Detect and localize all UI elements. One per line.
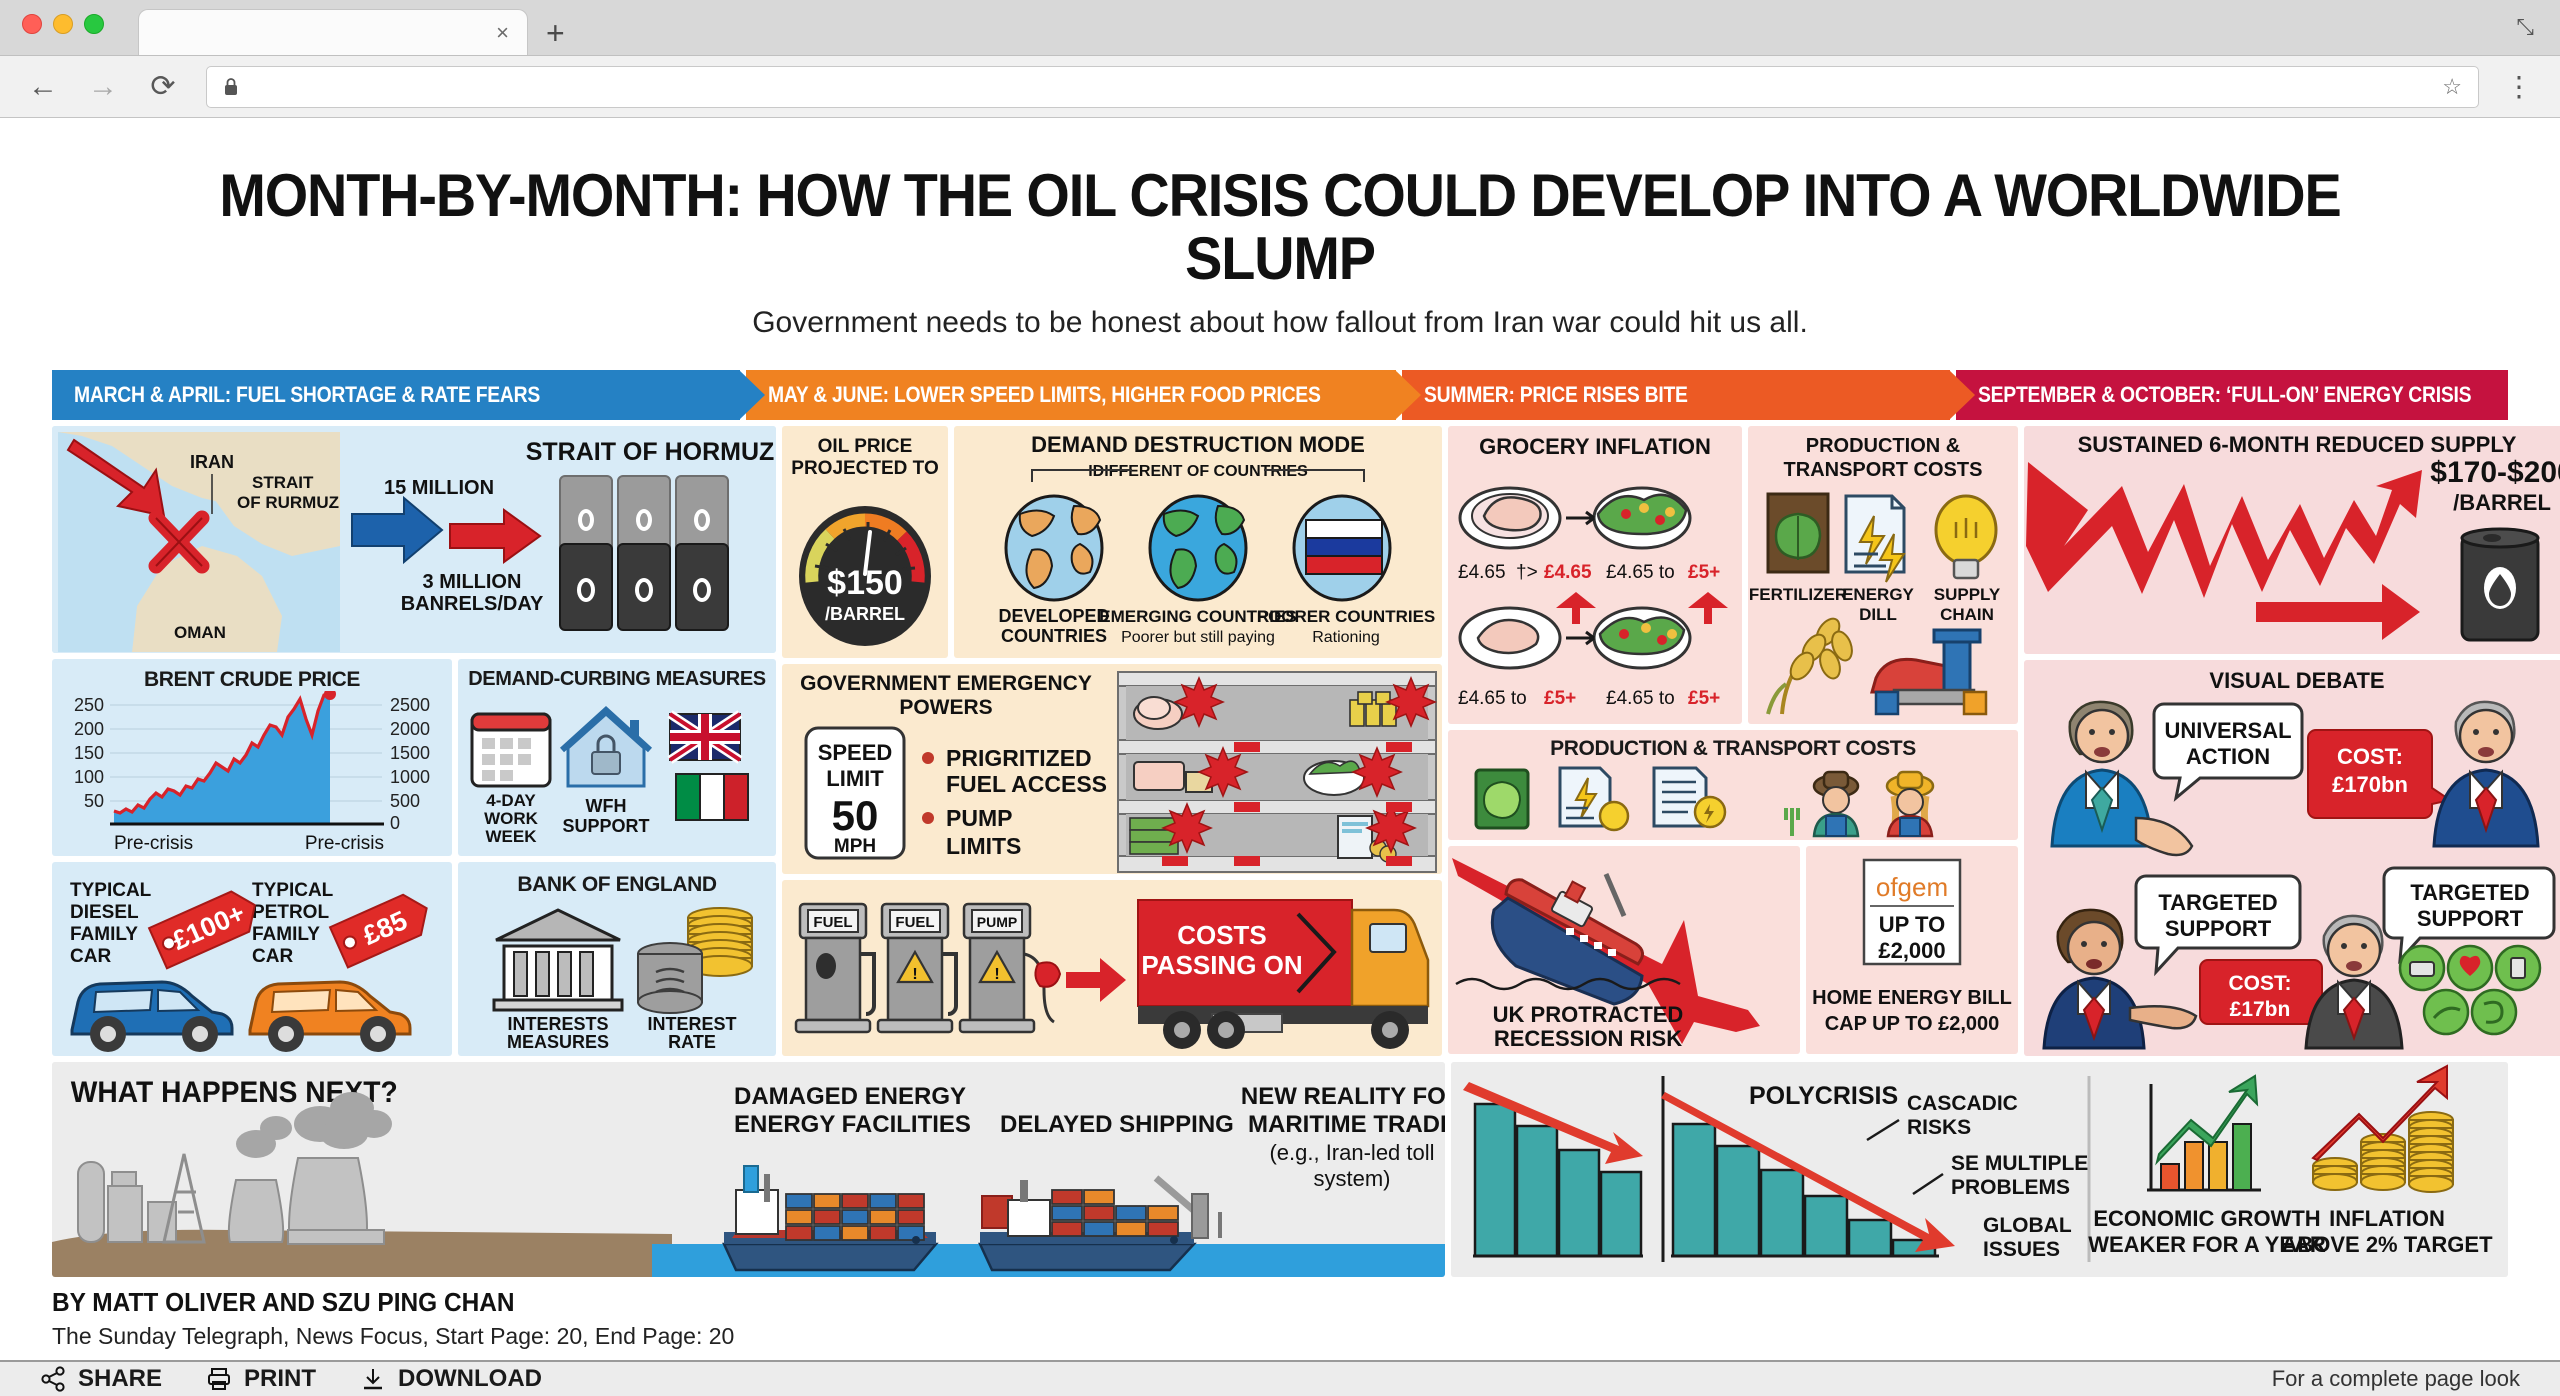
svg-text:WEEK: WEEK [486, 827, 538, 846]
panel-title: DEMAND-CURBING MEASURES [458, 659, 776, 690]
italy-flag-icon [676, 774, 748, 820]
print-label: PRINT [244, 1365, 316, 1393]
grocery-inflation-panel: GROCERY INFLATION £4.65 †> [1448, 426, 1742, 724]
fuel-cost-cars-panel: TYPICALDIESELFAMILYCAR TYPICALPETROLFAMI… [52, 862, 452, 1056]
pumps-and-truck-illustration: FUEL FUEL [782, 880, 1442, 1056]
svg-text:NEW REALITY FOR: NEW REALITY FOR [1241, 1083, 1445, 1110]
svg-text:INTEREST: INTEREST [647, 1014, 736, 1034]
svg-text:1000: 1000 [390, 767, 430, 787]
production-transport-costs-panel: PRODUCTION & TRANSPORT COSTS [1448, 730, 2018, 840]
share-label: SHARE [78, 1365, 162, 1393]
download-label: DOWNLOAD [398, 1365, 542, 1393]
svg-text:UK PROTRACTED: UK PROTRACTED [1493, 1002, 1684, 1027]
svg-text:2500: 2500 [390, 695, 430, 715]
svg-text:/BARREL: /BARREL [2453, 490, 2551, 515]
visual-debate-panel: VISUAL DEBATE [2024, 660, 2560, 1056]
demand-destruction-illustration: DEMAND DESTRUCTION MODE IDIFFERENT OF CO… [954, 426, 1442, 658]
svg-text:15 MILLION: 15 MILLION [384, 477, 494, 499]
bookmark-star-icon[interactable]: ☆ [2442, 74, 2462, 100]
phase-banner-strip: MARCH & APRIL: FUEL SHORTAGE & RATE FEAR… [52, 370, 2508, 420]
svg-text:2000: 2000 [390, 719, 430, 739]
svg-text:VISUAL DEBATE: VISUAL DEBATE [2209, 668, 2384, 693]
print-button[interactable]: PRINT [206, 1365, 316, 1393]
demand-curbing-icons: 4-DAY WORK WEEK WFH SUPPORT [458, 690, 776, 850]
browser-tab[interactable]: × [138, 9, 528, 55]
cost-bubble-17bn: COST: £17bn [2200, 960, 2322, 1024]
fertilizer-icon [1768, 494, 1828, 572]
svg-text:LIMITS: LIMITS [946, 833, 1021, 859]
svg-text:(e.g., Iran-led toll: (e.g., Iran-led toll [1269, 1140, 1434, 1165]
svg-text:HOME ENERGY BILL: HOME ENERGY BILL [1812, 987, 2012, 1009]
strait-of-hormuz-panel: IRAN STRAIT OF RURMUZ OMAN [52, 426, 776, 653]
close-icon[interactable]: × [492, 22, 513, 44]
svg-text:Pre-crisis: Pre-crisis [114, 833, 193, 854]
window-controls[interactable] [22, 14, 104, 34]
new-tab-button[interactable]: + [546, 17, 565, 49]
globe-emerging-icon [1150, 496, 1246, 600]
svg-text:TYPICAL: TYPICAL [252, 880, 334, 901]
svg-text:£4.65 to: £4.65 to [1458, 688, 1527, 709]
orange-car-icon [250, 982, 410, 1052]
svg-text:ACTION: ACTION [2186, 744, 2270, 769]
svg-text:UNIVERSAL: UNIVERSAL [2164, 718, 2291, 743]
svg-text:£2,000: £2,000 [1878, 938, 1945, 963]
speech-bubble-universal-action: UNIVERSAL ACTION [2154, 704, 2302, 798]
bank-of-england-icons: INTERESTS MEASURES INTEREST RATE [458, 896, 776, 1054]
close-window-button[interactable] [22, 14, 42, 34]
svg-text:Pre-crisis: Pre-crisis [305, 833, 384, 854]
svg-text:PETROL: PETROL [252, 902, 329, 923]
hormuz-map-illustration: IRAN STRAIT OF RURMUZ OMAN [52, 426, 776, 653]
svg-text:PRIGRITIZED: PRIGRITIZED [946, 745, 1092, 771]
svg-text:POWERS: POWERS [899, 696, 992, 719]
svg-text:CAP UP TO £2,000: CAP UP TO £2,000 [1825, 1013, 2000, 1035]
fuel-pump-1: FUEL [796, 904, 874, 1032]
svg-text:CHAIN: CHAIN [1940, 605, 1994, 624]
forward-icon[interactable]: → [86, 70, 120, 104]
production-transport-top-panel: PRODUCTION & TRANSPORT COSTS [1748, 426, 2018, 724]
svg-text:GLOBAL: GLOBAL [1983, 1214, 2072, 1237]
fuel-pump-2: FUEL ! [878, 904, 956, 1032]
svg-text:OIL PRICE: OIL PRICE [818, 436, 913, 457]
svg-text:FUEL: FUEL [813, 914, 852, 931]
svg-text:SUPPORT: SUPPORT [562, 816, 649, 836]
svg-text:Rationing: Rationing [1312, 629, 1380, 646]
browser-window: × + ⤡ ← → ⟳ ☆ ⋮ MONTH-BY-MONTH: HOW THE … [0, 0, 2560, 1396]
svg-text:/BARREL: /BARREL [825, 604, 905, 624]
political-debate-illustration: VISUAL DEBATE [2024, 660, 2560, 1056]
polycrisis-charts: POLYCRISIS CASCADIC RISKS SE MULTIPLE PR… [1451, 1062, 2508, 1277]
navigation-bar: ← → ⟳ ☆ ⋮ [0, 56, 2560, 118]
svg-text:£17bn: £17bn [2230, 998, 2291, 1021]
svg-text:ofgem: ofgem [1876, 872, 1948, 902]
share-button[interactable]: SHARE [40, 1365, 162, 1393]
svg-text:system): system) [1314, 1166, 1391, 1191]
price-tag-petrol: £85 [330, 888, 436, 967]
globe-developed-icon [1006, 496, 1102, 600]
invoice-icon [1654, 768, 1725, 827]
svg-text:UP TO: UP TO [1879, 912, 1945, 937]
svg-text:BANRELS/DAY: BANRELS/DAY [401, 593, 544, 615]
infographic: MONTH-BY-MONTH: HOW THE OIL CRISIS COULD… [0, 118, 2560, 1277]
svg-text:TYPICAL: TYPICAL [70, 880, 152, 901]
svg-text:3 MILLION: 3 MILLION [423, 571, 522, 593]
delivery-truck-icon: COSTS PASSING ON [1138, 900, 1428, 1049]
what-happens-next-panel: WHAT HAPPENS NEXT? [52, 1062, 1445, 1277]
speech-bubble-targeted-support-left: TARGETED SUPPORT [2136, 876, 2300, 972]
svg-text:RISKS: RISKS [1907, 1116, 1971, 1139]
production-transport-icons: PRODUCTION & TRANSPORT COSTS [1748, 426, 2018, 724]
back-icon[interactable]: ← [26, 70, 60, 104]
svg-text:POLYCRISIS: POLYCRISIS [1749, 1082, 1898, 1110]
svg-text:ENERGY FACILITIES: ENERGY FACILITIES [734, 1111, 971, 1138]
uk-flag-icon [670, 714, 740, 760]
svg-text:PASSING ON: PASSING ON [1141, 950, 1302, 980]
svg-text:DEMAND DESTRUCTION MODE: DEMAND DESTRUCTION MODE [1031, 432, 1365, 457]
svg-text:$170-$200: $170-$200 [2430, 456, 2560, 489]
svg-text:IDIFFERENT OF COUNTRIES: IDIFFERENT OF COUNTRIES [1088, 463, 1308, 480]
svg-text:CAR: CAR [70, 946, 111, 967]
oil-barrel-icon [2462, 529, 2538, 640]
svg-text:ISSUES: ISSUES [1983, 1238, 2060, 1261]
svg-text:GOVERNMENT EMERGENCY: GOVERNMENT EMERGENCY [800, 672, 1092, 695]
sinking-ship-illustration: UK PROTRACTED RECESSION RISK [1448, 846, 1800, 1054]
bottom-strip: WHAT HAPPENS NEXT? [52, 1062, 2508, 1277]
page-title: MONTH-BY-MONTH: HOW THE OIL CRISIS COULD… [138, 164, 2422, 290]
svg-text:INFLATION: INFLATION [2329, 1206, 2445, 1231]
article-authors: BY MATT OLIVER AND SZU PING CHAN [52, 1287, 515, 1318]
svg-text:LIMIT: LIMIT [826, 766, 884, 791]
browser-menu-icon[interactable]: ⋮ [2505, 70, 2534, 103]
svg-text:4-DAY: 4-DAY [486, 791, 536, 810]
svg-text:£5+: £5+ [1688, 562, 1720, 583]
svg-text:£4.65 to: £4.65 to [1606, 562, 1675, 583]
phase-columns: IRAN STRAIT OF RURMUZ OMAN [52, 426, 2508, 1056]
svg-text:SPEED: SPEED [818, 740, 893, 765]
banner-label: MARCH & APRIL: FUEL SHORTAGE & RATE FEAR… [74, 382, 540, 408]
oil-price-gauge: OIL PRICE PROJECTED TO [782, 426, 948, 658]
page-content: MONTH-BY-MONTH: HOW THE OIL CRISIS COULD… [0, 118, 2560, 1396]
reduced-supply-illustration: SUSTAINED 6-MONTH REDUCED SUPPLY $170-$2… [2024, 426, 2560, 654]
svg-text:POORER COUNTRIES: POORER COUNTRIES [1257, 607, 1436, 626]
farmer-female-icon [1887, 772, 1933, 836]
share-icon [40, 1366, 66, 1392]
speed-limit-sign: SPEED LIMIT 50 MPH [806, 728, 904, 858]
svg-text:£170bn: £170bn [2332, 772, 2408, 797]
ofgem-cap-illustration: ofgem UP TO £2,000 HOME ENERGY BILL CAP … [1806, 846, 2018, 1054]
svg-text:SUSTAINED 6-MONTH REDUCED SUPP: SUSTAINED 6-MONTH REDUCED SUPPLY [2078, 432, 2517, 457]
banner-label: SUMMER: PRICE RISES BITE [1424, 382, 1688, 408]
svg-text:PROBLEMS: PROBLEMS [1951, 1176, 2070, 1199]
bullet-dot [922, 812, 934, 824]
bank-of-england-panel: BANK OF ENGLAND [458, 862, 776, 1056]
maximize-window-button[interactable] [84, 14, 104, 34]
energy-invoice-icon [1560, 768, 1628, 830]
demand-curbing-panel: DEMAND-CURBING MEASURES [458, 659, 776, 856]
reload-icon[interactable]: ⟳ [146, 69, 180, 104]
svg-text:£5+: £5+ [1544, 688, 1576, 709]
brent-crude-line-chart: 250200150 10050 250020001500 10005000 [52, 691, 452, 856]
svg-text:PUMP: PUMP [977, 914, 1017, 930]
address-bar[interactable]: ☆ [206, 66, 2479, 108]
expand-icon[interactable]: ⤡ [2516, 14, 2534, 40]
lock-icon [223, 77, 239, 97]
svg-text:RECESSION RISK: RECESSION RISK [1494, 1026, 1682, 1051]
banner-march-april: MARCH & APRIL: FUEL SHORTAGE & RATE FEAR… [52, 370, 740, 420]
bullet-dot [922, 752, 934, 764]
bank-building-icon [494, 910, 622, 1010]
svg-text:200: 200 [74, 719, 104, 739]
printer-icon [206, 1366, 232, 1392]
svg-text:50: 50 [84, 791, 104, 811]
column-may-june: OIL PRICE PROJECTED TO [782, 426, 1442, 1056]
svg-text:ENERGY: ENERGY [1842, 585, 1914, 604]
svg-text:1500: 1500 [390, 743, 430, 763]
svg-text:ABOVE 2% TARGET: ABOVE 2% TARGET [2281, 1232, 2493, 1257]
svg-text:†>: †> [1516, 562, 1538, 583]
svg-text:150: 150 [74, 743, 104, 763]
svg-text:FAMILY: FAMILY [252, 924, 320, 945]
support-badges [2400, 946, 2540, 1034]
coins-oil-icon [638, 908, 752, 1013]
svg-text:WFH: WFH [586, 796, 627, 816]
svg-text:FUEL: FUEL [895, 914, 934, 931]
svg-text:COSTS: COSTS [1177, 920, 1267, 950]
svg-text:FUEL ACCESS: FUEL ACCESS [946, 771, 1107, 797]
fertilizer-bag-icon [1476, 770, 1528, 828]
svg-text:$150: $150 [827, 564, 903, 602]
svg-text:MPH: MPH [834, 836, 876, 857]
column-march-april: IRAN STRAIT OF RURMUZ OMAN [52, 426, 776, 1056]
svg-text:COUNTRIES: COUNTRIES [1001, 626, 1107, 646]
supply-chain-bulb-icon [1936, 496, 1996, 578]
svg-text:£5+: £5+ [1688, 688, 1720, 709]
svg-text:CASCADIC: CASCADIC [1907, 1092, 2018, 1115]
svg-text:£4.65 to: £4.65 to [1606, 688, 1675, 709]
sustained-supply-panel: SUSTAINED 6-MONTH REDUCED SUPPLY $170-$2… [2024, 426, 2560, 654]
svg-text:STRAIT OF HORMUZ: STRAIT OF HORMUZ [526, 438, 775, 466]
svg-text:MARITIME TRADE: MARITIME TRADE [1248, 1111, 1445, 1138]
energy-bill-icon [1846, 496, 1904, 582]
fuel-pump-3: PUMP ! [960, 904, 1060, 1032]
chevron-right-icon [1949, 370, 1975, 420]
svg-text:DIESEL: DIESEL [70, 902, 139, 923]
column-september-october: SUSTAINED 6-MONTH REDUCED SUPPLY $170-$2… [2024, 426, 2560, 1056]
svg-text:SUPPORT: SUPPORT [2165, 916, 2272, 941]
svg-text:FAMILY: FAMILY [70, 924, 138, 945]
empty-shelves-illustration [1118, 672, 1436, 872]
demand-destruction-panel: DEMAND DESTRUCTION MODE IDIFFERENT OF CO… [954, 426, 1442, 658]
house-lock-icon [562, 710, 650, 786]
wheat-icon [1768, 615, 1856, 714]
svg-text:TARGETED: TARGETED [2410, 880, 2529, 905]
fuel-pumps-costs-panel: FUEL FUEL [782, 880, 1442, 1056]
svg-text:!: ! [994, 966, 999, 983]
price-tag-diesel: £100+ [149, 885, 264, 968]
tab-bar: × + ⤡ [0, 0, 2560, 56]
byline-block: BY MATT OLIVER AND SZU PING CHAN The Sun… [0, 1277, 2560, 1350]
svg-text:250: 250 [74, 695, 104, 715]
svg-text:GROCERY INFLATION: GROCERY INFLATION [1479, 434, 1711, 459]
svg-text:DEVELOPED: DEVELOPED [998, 606, 1109, 626]
svg-text:£4.65: £4.65 [1544, 562, 1592, 583]
svg-text:WORK: WORK [484, 809, 539, 828]
panel-title: BANK OF ENGLAND [458, 862, 776, 896]
svg-text:IRAN: IRAN [190, 452, 234, 472]
blue-car-icon [72, 982, 232, 1052]
svg-text:OMAN: OMAN [174, 623, 226, 642]
svg-text:SE MULTIPLE: SE MULTIPLE [1951, 1152, 2088, 1175]
banner-may-june: MAY & JUNE: LOWER SPEED LIMITS, HIGHER F… [746, 370, 1396, 420]
chevron-right-icon [739, 370, 765, 420]
download-icon [360, 1366, 386, 1392]
svg-text:0: 0 [390, 813, 400, 833]
svg-text:STRAIT: STRAIT [252, 473, 314, 492]
calendar-icon [472, 714, 550, 786]
svg-text:COST:: COST: [2229, 972, 2292, 995]
svg-text:£4.65: £4.65 [1458, 562, 1506, 583]
chart-title: BRENT CRUDE PRICE [52, 659, 452, 691]
grocery-inflation-illustration: GROCERY INFLATION £4.65 †> [1448, 426, 1742, 724]
banner-summer: SUMMER: PRICE RISES BITE [1402, 370, 1950, 420]
svg-text:TRANSPORT COSTS: TRANSPORT COSTS [1784, 459, 1983, 481]
download-button[interactable]: DOWNLOAD [360, 1365, 542, 1393]
svg-text:Poorer but still paying: Poorer but still paying [1121, 629, 1275, 646]
footer-note: For a complete page look [2272, 1366, 2520, 1392]
svg-text:500: 500 [390, 791, 420, 811]
svg-text:CAR: CAR [252, 946, 293, 967]
action-toolbar: SHARE PRINT DOWNLOAD For a complete page… [0, 1360, 2560, 1396]
svg-text:50: 50 [832, 792, 879, 839]
svg-text:PRODUCTION &: PRODUCTION & [1806, 435, 1960, 457]
svg-text:SUPPORT: SUPPORT [2417, 906, 2524, 931]
what-happens-next-illustration: WHAT HAPPENS NEXT? [52, 1062, 1445, 1277]
energy-bill-cap-panel: ofgem UP TO £2,000 HOME ENERGY BILL CAP … [1806, 846, 2018, 1054]
emergency-powers-illustration: GOVERNMENT EMERGENCY POWERS SPEED LIMIT … [782, 664, 1442, 874]
minimize-window-button[interactable] [53, 14, 73, 34]
svg-text:ECONOMIC GROWTH: ECONOMIC GROWTH [2093, 1206, 2320, 1231]
brent-crude-chart-panel: BRENT CRUDE PRICE 250200150 10050 [52, 659, 452, 856]
column-summer: GROCERY INFLATION £4.65 †> [1448, 426, 2018, 1056]
svg-text:100: 100 [74, 767, 104, 787]
svg-text:FERTILIZER: FERTILIZER [1749, 585, 1847, 604]
chevron-right-icon [1395, 370, 1421, 420]
politician-2 [2434, 702, 2538, 846]
banner-label: SEPTEMBER & OCTOBER: ‘FULL-ON’ ENERGY CR… [1978, 382, 2471, 408]
government-emergency-powers-panel: GOVERNMENT EMERGENCY POWERS SPEED LIMIT … [782, 664, 1442, 874]
banner-label: MAY & JUNE: LOWER SPEED LIMITS, HIGHER F… [768, 382, 1321, 408]
car-price-illustration: TYPICALDIESELFAMILYCAR TYPICALPETROLFAMI… [52, 862, 452, 1056]
svg-text:INTERESTS: INTERESTS [507, 1014, 608, 1034]
svg-text:MEASURES: MEASURES [507, 1032, 609, 1052]
uk-recession-panel: UK PROTRACTED RECESSION RISK [1448, 846, 1800, 1054]
page-subtitle: Government needs to be honest about how … [52, 306, 2508, 340]
svg-text:OF RURMUZ: OF RURMUZ [237, 493, 339, 512]
polycrisis-outcomes-panel: POLYCRISIS CASCADIC RISKS SE MULTIPLE PR… [1451, 1062, 2508, 1277]
publication-info: The Sunday Telegraph, News Focus, Start … [52, 1323, 2508, 1350]
cost-bubble-170bn: COST: £170bn [2308, 730, 2450, 818]
svg-text:TARGETED: TARGETED [2158, 890, 2277, 915]
svg-text:DAMAGED ENERGY: DAMAGED ENERGY [734, 1083, 966, 1110]
tractor-icon [1872, 630, 1986, 714]
svg-text:!: ! [912, 966, 917, 983]
globe-poorer-icon [1294, 496, 1390, 600]
oil-price-projection-panel: OIL PRICE PROJECTED TO [782, 426, 948, 658]
svg-text:DELAYED SHIPPING: DELAYED SHIPPING [1000, 1111, 1234, 1138]
cost-driver-icons [1448, 760, 2018, 838]
svg-text:DILL: DILL [1859, 605, 1897, 624]
svg-text:RATE: RATE [668, 1032, 716, 1052]
farmer-male-icon [1786, 772, 1858, 836]
svg-text:PUMP: PUMP [946, 805, 1012, 831]
panel-title: PRODUCTION & TRANSPORT COSTS [1448, 730, 2018, 760]
svg-text:PROJECTED TO: PROJECTED TO [791, 458, 938, 479]
svg-text:SUPPLY: SUPPLY [1934, 585, 2001, 604]
banner-september-october: SEPTEMBER & OCTOBER: ‘FULL-ON’ ENERGY CR… [1956, 370, 2508, 420]
svg-text:COST:: COST: [2337, 744, 2403, 769]
